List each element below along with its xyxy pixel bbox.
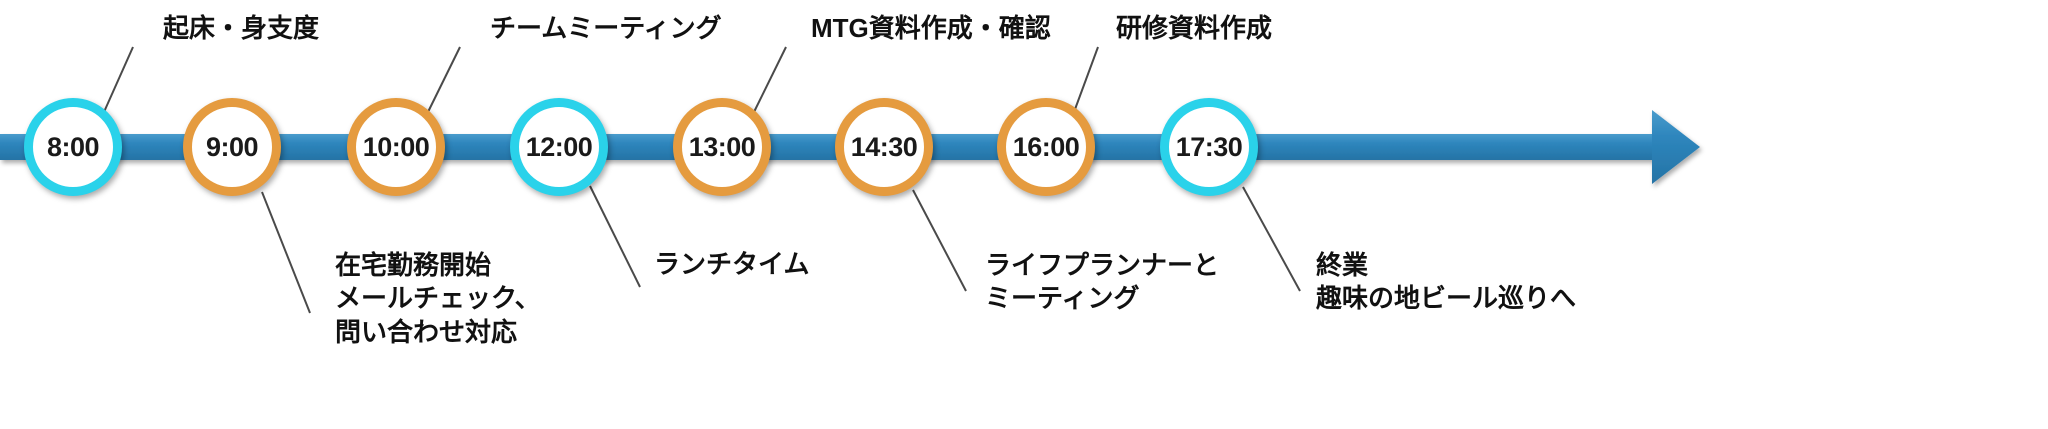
- timeline-node-1600[interactable]: 16:00: [997, 98, 1095, 196]
- annotation-label-1300: MTG資料作成・確認: [811, 12, 1051, 45]
- annotation-label-1600: 研修資料作成: [1116, 12, 1272, 45]
- leader-line-1300: [754, 47, 786, 112]
- timeline-node-800[interactable]: 8:00: [24, 98, 122, 196]
- timeline-graphics-layer: [0, 0, 2048, 429]
- timeline-node-time-label: 16:00: [1013, 134, 1080, 161]
- annotation-label-900: 在宅勤務開始 メールチェック、 問い合わせ対応: [335, 249, 541, 349]
- timeline-node-time-label: 12:00: [526, 134, 593, 161]
- timeline-node-time-label: 8:00: [47, 134, 99, 161]
- timeline-node-time-label: 10:00: [363, 134, 430, 161]
- timeline-node-1000[interactable]: 10:00: [347, 98, 445, 196]
- timeline-node-900[interactable]: 9:00: [183, 98, 281, 196]
- annotation-label-1000: チームミーティング: [490, 12, 722, 45]
- leader-line-900: [262, 192, 310, 313]
- leader-line-1600: [1074, 47, 1098, 112]
- timeline-node-time-label: 14:30: [851, 134, 918, 161]
- timeline-arrowhead: [1652, 110, 1700, 184]
- timeline-node-1300[interactable]: 13:00: [673, 98, 771, 196]
- annotation-label-1730: 終業 趣味の地ビール巡りへ: [1316, 249, 1576, 316]
- annotation-label-800: 起床・身支度: [163, 12, 319, 45]
- timeline-node-1730[interactable]: 17:30: [1160, 98, 1258, 196]
- leader-line-1430: [913, 190, 966, 291]
- timeline-node-time-label: 17:30: [1176, 134, 1243, 161]
- timeline-diagram: 8:009:0010:0012:0013:0014:3016:0017:30 起…: [0, 0, 2048, 429]
- leader-line-1000: [428, 47, 460, 112]
- leader-line-1730: [1243, 187, 1300, 291]
- timeline-node-time-label: 13:00: [689, 134, 756, 161]
- timeline-node-1200[interactable]: 12:00: [510, 98, 608, 196]
- timeline-node-1430[interactable]: 14:30: [835, 98, 933, 196]
- leader-line-800: [104, 47, 133, 112]
- annotation-label-1200: ランチタイム: [654, 248, 809, 281]
- leader-line-1200: [590, 186, 640, 287]
- timeline-node-time-label: 9:00: [206, 134, 258, 161]
- annotation-label-1430: ライフプランナーと ミーティング: [985, 249, 1219, 316]
